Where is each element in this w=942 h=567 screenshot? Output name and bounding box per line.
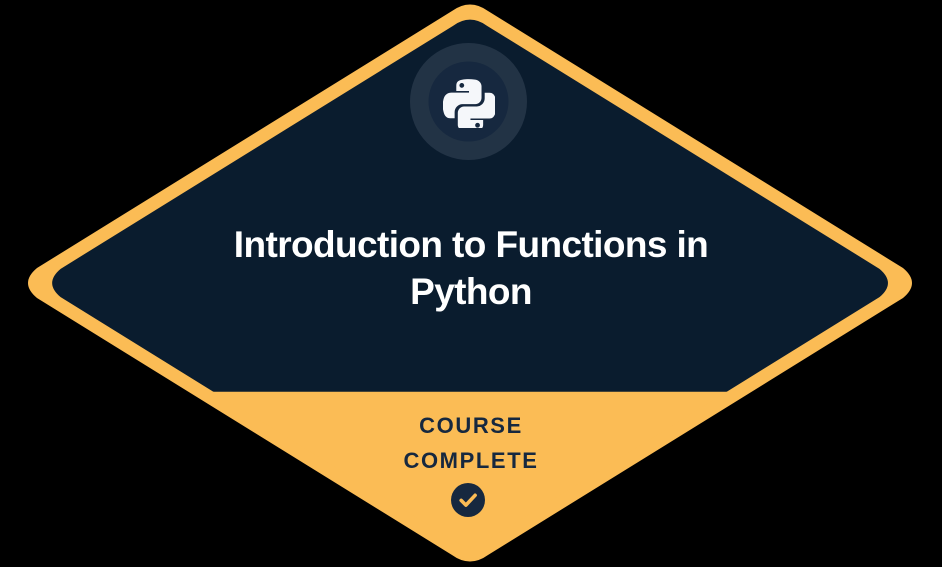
python-logo-icon	[443, 76, 495, 128]
completion-status-block: COURSE COMPLETE	[271, 408, 671, 478]
status-label-line-2: COMPLETE	[271, 443, 671, 478]
course-completion-badge: Introduction to Functions in Python COUR…	[0, 0, 942, 567]
check-circle-icon	[451, 483, 485, 517]
status-label-line-1: COURSE	[271, 408, 671, 443]
emblem-medallion	[410, 43, 527, 160]
course-title-block: Introduction to Functions in Python	[171, 221, 771, 315]
completion-check-wrapper	[451, 483, 485, 517]
course-title: Introduction to Functions in Python	[171, 221, 771, 315]
